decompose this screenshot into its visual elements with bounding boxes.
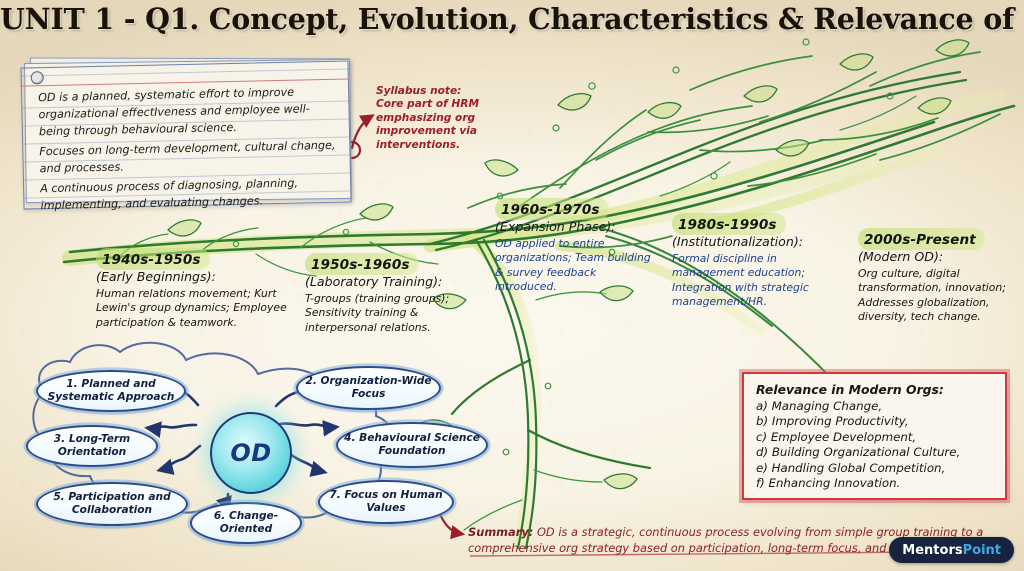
characteristic-bubble-3: 3. Long-Term Orientation: [26, 425, 158, 467]
timeline-body: OD applied to entire organizations; Team…: [495, 237, 660, 295]
timeline-body: Formal discipline in management educatio…: [672, 252, 852, 310]
timeline-entry-1960s-1970s: 1960s-1970s (Expansion Phase): OD applie…: [495, 198, 660, 295]
syllabus-note-label: Syllabus note:: [376, 85, 496, 98]
note-card-text: OD is a planned, systematic effort to im…: [38, 83, 339, 217]
timeline-entry-2000s-present: 2000s-Present (Modern OD): Org culture, …: [858, 228, 1023, 325]
timeline-year: 1940s-1950s: [102, 252, 201, 268]
relevance-box: Relevance in Modern Orgs: a) Managing Ch…: [742, 372, 1007, 500]
timeline-entry-1980s-1990s: 1980s-1990s (Institutionalization): Form…: [672, 213, 852, 310]
relevance-item: f) Enhancing Innovation.: [756, 476, 995, 491]
timeline-year-highlight: 1980s-1990s: [672, 213, 786, 235]
relevance-item: e) Handling Global Competition,: [756, 461, 995, 476]
timeline-year: 2000s-Present: [864, 232, 976, 248]
note-sheet-front: OD is a planned, systematic effort to im…: [21, 60, 352, 209]
characteristic-bubble-5: 5. Participation and Collaboration: [36, 482, 188, 526]
relevance-title: Relevance in Modern Orgs:: [756, 382, 995, 397]
timeline-year: 1950s-1960s: [311, 257, 410, 273]
syllabus-note-text: Core part of HRM emphasizing org improve…: [376, 98, 496, 152]
timeline-year: 1980s-1990s: [678, 217, 777, 233]
timeline-year-highlight: 2000s-Present: [858, 228, 985, 250]
characteristic-bubble-1: 1. Planned and Systematic Approach: [36, 370, 186, 412]
syllabus-note: Syllabus note: Core part of HRM emphasiz…: [376, 85, 496, 152]
logo-part-2: Point: [963, 543, 1001, 558]
definition-note-card: OD is a planned, systematic effort to im…: [21, 60, 354, 207]
od-center-node: OD: [210, 412, 292, 494]
relevance-item: a) Managing Change,: [756, 399, 995, 414]
timeline-body: T-groups (training groups); Sensitivity …: [305, 292, 490, 335]
page-title: UNIT 1 - Q1. Concept, Evolution, Charact…: [0, 2, 1024, 36]
mentorspoint-logo: MentorsPoint: [889, 537, 1014, 563]
relevance-item: d) Building Organizational Culture,: [756, 445, 995, 460]
characteristic-bubble-7: 7. Focus on Human Values: [318, 480, 454, 524]
timeline-entry-1950s-1960s: 1950s-1960s (Laboratory Training): T-gro…: [305, 253, 490, 335]
logo-part-1: Mentors: [902, 543, 962, 558]
characteristic-bubble-2: 2. Organization-Wide Focus: [296, 366, 441, 410]
relevance-item: c) Employee Development,: [756, 430, 995, 445]
timeline-year-highlight: 1940s-1950s: [96, 248, 210, 270]
timeline-phase: (Laboratory Training):: [305, 274, 490, 289]
relevance-list: a) Managing Change, b) Improving Product…: [756, 399, 995, 491]
timeline-phase: (Expansion Phase):: [495, 219, 660, 234]
note-line-3: A continuous process of diagnosing, plan…: [40, 174, 339, 214]
timeline-year-highlight: 1960s-1970s: [495, 198, 609, 220]
characteristic-bubble-4: 4. Behavioural Science Foundation: [336, 422, 488, 468]
timeline-body: Org culture, digital transformation, inn…: [858, 267, 1023, 325]
hole-punch-icon: [31, 71, 44, 84]
note-line-2: Focuses on long-term development, cultur…: [39, 137, 338, 177]
timeline-year: 1960s-1970s: [501, 202, 600, 218]
note-line-1: OD is a planned, systematic effort to im…: [38, 83, 337, 140]
timeline-year-highlight: 1950s-1960s: [305, 253, 419, 275]
timeline-body: Human relations movement; Kurt Lewin's g…: [96, 287, 301, 330]
infographic-canvas: UNIT 1 - Q1. Concept, Evolution, Charact…: [0, 0, 1024, 571]
characteristic-bubble-6: 6. Change-Oriented: [190, 502, 302, 544]
timeline-entry-1940s-1950s: 1940s-1950s (Early Beginnings): Human re…: [96, 248, 301, 330]
timeline-phase: (Early Beginnings):: [96, 269, 301, 284]
summary-label: Summary:: [468, 525, 533, 539]
characteristics-diagram: 1. Planned and Systematic Approach 2. Or…: [18, 360, 478, 545]
timeline-phase: (Institutionalization):: [672, 234, 852, 249]
relevance-item: b) Improving Productivity,: [756, 414, 995, 429]
timeline-phase: (Modern OD):: [858, 249, 1023, 264]
